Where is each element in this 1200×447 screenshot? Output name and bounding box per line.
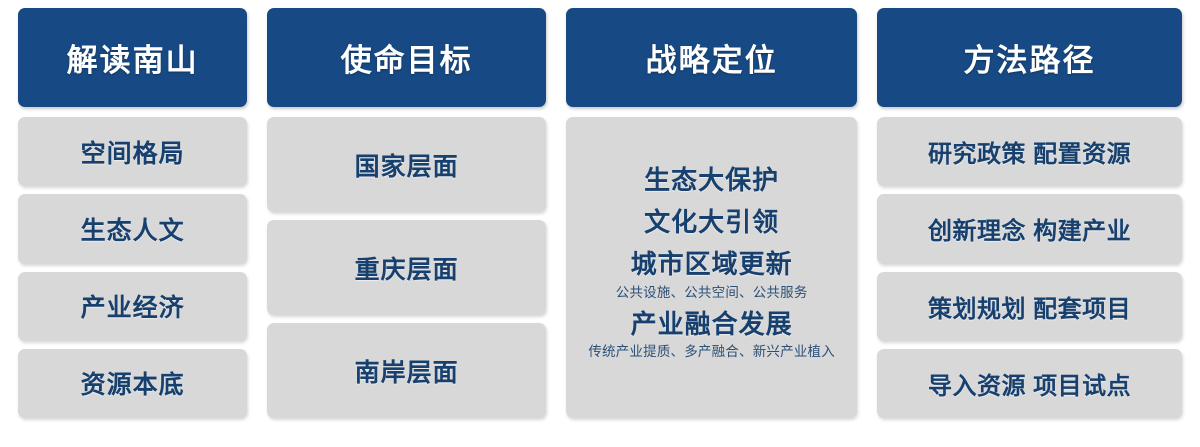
panel-entry-title: 生态大保护 [644,163,779,197]
cell-label: 资源本底 [81,365,185,401]
cell-label: 国家层面 [355,147,459,183]
panel-entry[interactable]: 文化大引领 [644,205,779,239]
list-item[interactable]: 空间格局 [18,117,247,186]
panel-entry-subtitle: 公共设施、公共空间、公共服务 [616,283,808,303]
panel-entry-title: 城市区域更新 [616,247,808,281]
list-item[interactable]: 导入资源 项目试点 [877,349,1182,418]
column-header-strategic-positioning[interactable]: 战略定位 [566,8,857,107]
list-item[interactable]: 创新理念 构建产业 [877,194,1182,263]
strategic-positioning-panel: 生态大保护 文化大引领 城市区域更新 公共设施、公共空间、公共服务 产业融合发展… [566,117,857,418]
column-body-method-path: 研究政策 配置资源 创新理念 构建产业 策划规划 配套项目 导入资源 项目试点 [877,117,1182,418]
column-mission-goals: 使命目标 国家层面 重庆层面 南岸层面 [267,8,546,418]
column-header-interpret-nanshan[interactable]: 解读南山 [18,8,247,107]
panel-entry[interactable]: 产业融合发展 传统产业提质、多产融合、新兴产业植入 [588,307,835,363]
column-header-mission-goals[interactable]: 使命目标 [267,8,546,107]
column-header-method-path[interactable]: 方法路径 [877,8,1182,107]
list-item[interactable]: 重庆层面 [267,220,546,315]
list-item[interactable]: 国家层面 [267,117,546,212]
cell-label: 研究政策 配置资源 [928,134,1131,169]
cell-label: 重庆层面 [355,250,459,286]
panel-entry-subtitle: 传统产业提质、多产融合、新兴产业植入 [588,342,835,362]
cell-label: 空间格局 [81,134,185,170]
column-method-path: 方法路径 研究政策 配置资源 创新理念 构建产业 策划规划 配套项目 导入资源 … [877,8,1182,418]
cell-label: 创新理念 构建产业 [928,211,1131,246]
four-column-strategy-board: 解读南山 空间格局 生态人文 产业经济 资源本底 使命目标 国家层面 重庆层面 [0,0,1200,447]
cell-label: 产业经济 [81,288,185,324]
panel-entry[interactable]: 生态大保护 [644,163,779,197]
panel-entry-title: 产业融合发展 [588,307,835,341]
column-body-mission-goals: 国家层面 重庆层面 南岸层面 [267,117,546,418]
panel-entry-title: 文化大引领 [644,205,779,239]
panel-entry[interactable]: 城市区域更新 公共设施、公共空间、公共服务 [616,247,808,303]
list-item[interactable]: 研究政策 配置资源 [877,117,1182,186]
column-body-interpret-nanshan: 空间格局 生态人文 产业经济 资源本底 [18,117,247,418]
list-item[interactable]: 南岸层面 [267,323,546,418]
list-item[interactable]: 产业经济 [18,272,247,341]
cell-label: 策划规划 配套项目 [928,289,1131,324]
list-item[interactable]: 资源本底 [18,349,247,418]
list-item[interactable]: 生态人文 [18,194,247,263]
cell-label: 南岸层面 [355,353,459,389]
cell-label: 生态人文 [81,211,185,247]
column-strategic-positioning: 战略定位 生态大保护 文化大引领 城市区域更新 公共设施、公共空间、公共服务 产… [566,8,857,418]
column-interpret-nanshan: 解读南山 空间格局 生态人文 产业经济 资源本底 [18,8,247,418]
list-item[interactable]: 策划规划 配套项目 [877,272,1182,341]
cell-label: 导入资源 项目试点 [928,366,1131,401]
